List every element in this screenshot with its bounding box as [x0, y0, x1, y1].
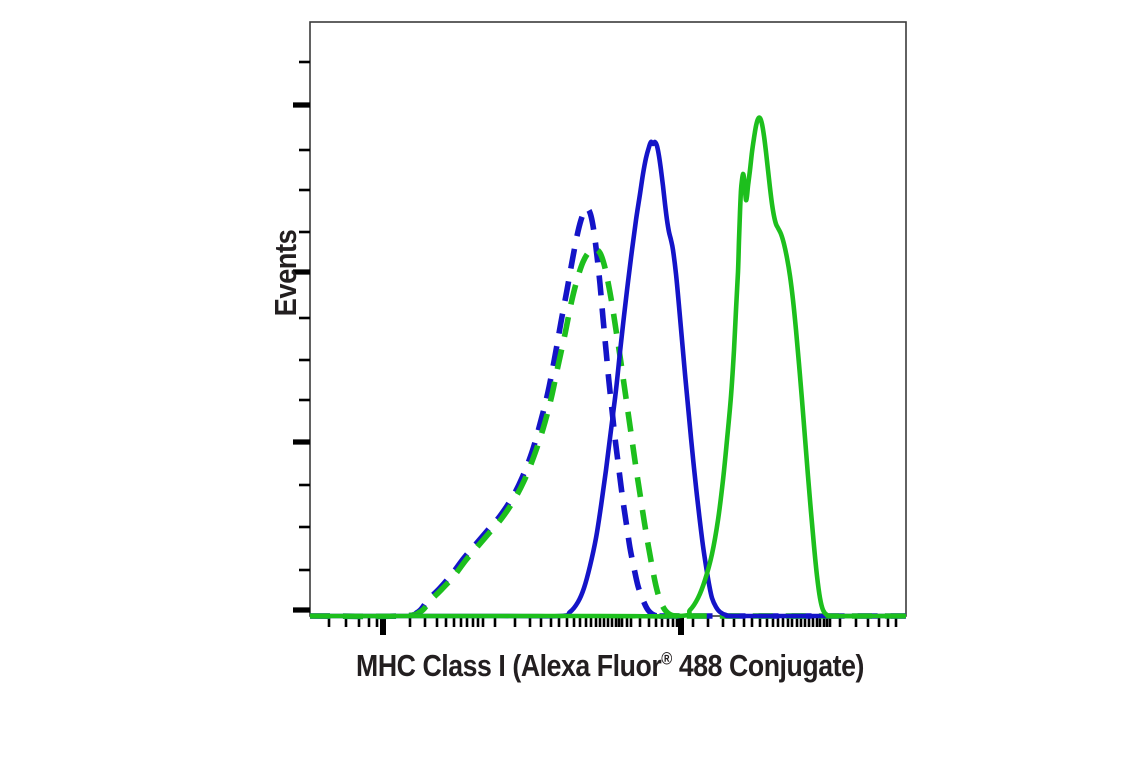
x-axis-title-suffix: 488 Conjugate) — [672, 648, 864, 683]
registered-trademark-icon: ® — [661, 649, 672, 669]
x-axis-title: MHC Class I (Alexa Fluor® 488 Conjugate) — [275, 648, 946, 684]
plot-frame-rect — [310, 22, 906, 616]
flow-cytometry-figure: MHC Class I (Alexa Fluor® 488 Conjugate)… — [0, 0, 1141, 768]
x-axis-title-prefix: MHC Class I (Alexa Fluor — [356, 648, 661, 683]
x-axis-ticks — [329, 616, 896, 635]
plot-frame — [310, 22, 906, 616]
y-axis-title: Events — [268, 203, 304, 344]
